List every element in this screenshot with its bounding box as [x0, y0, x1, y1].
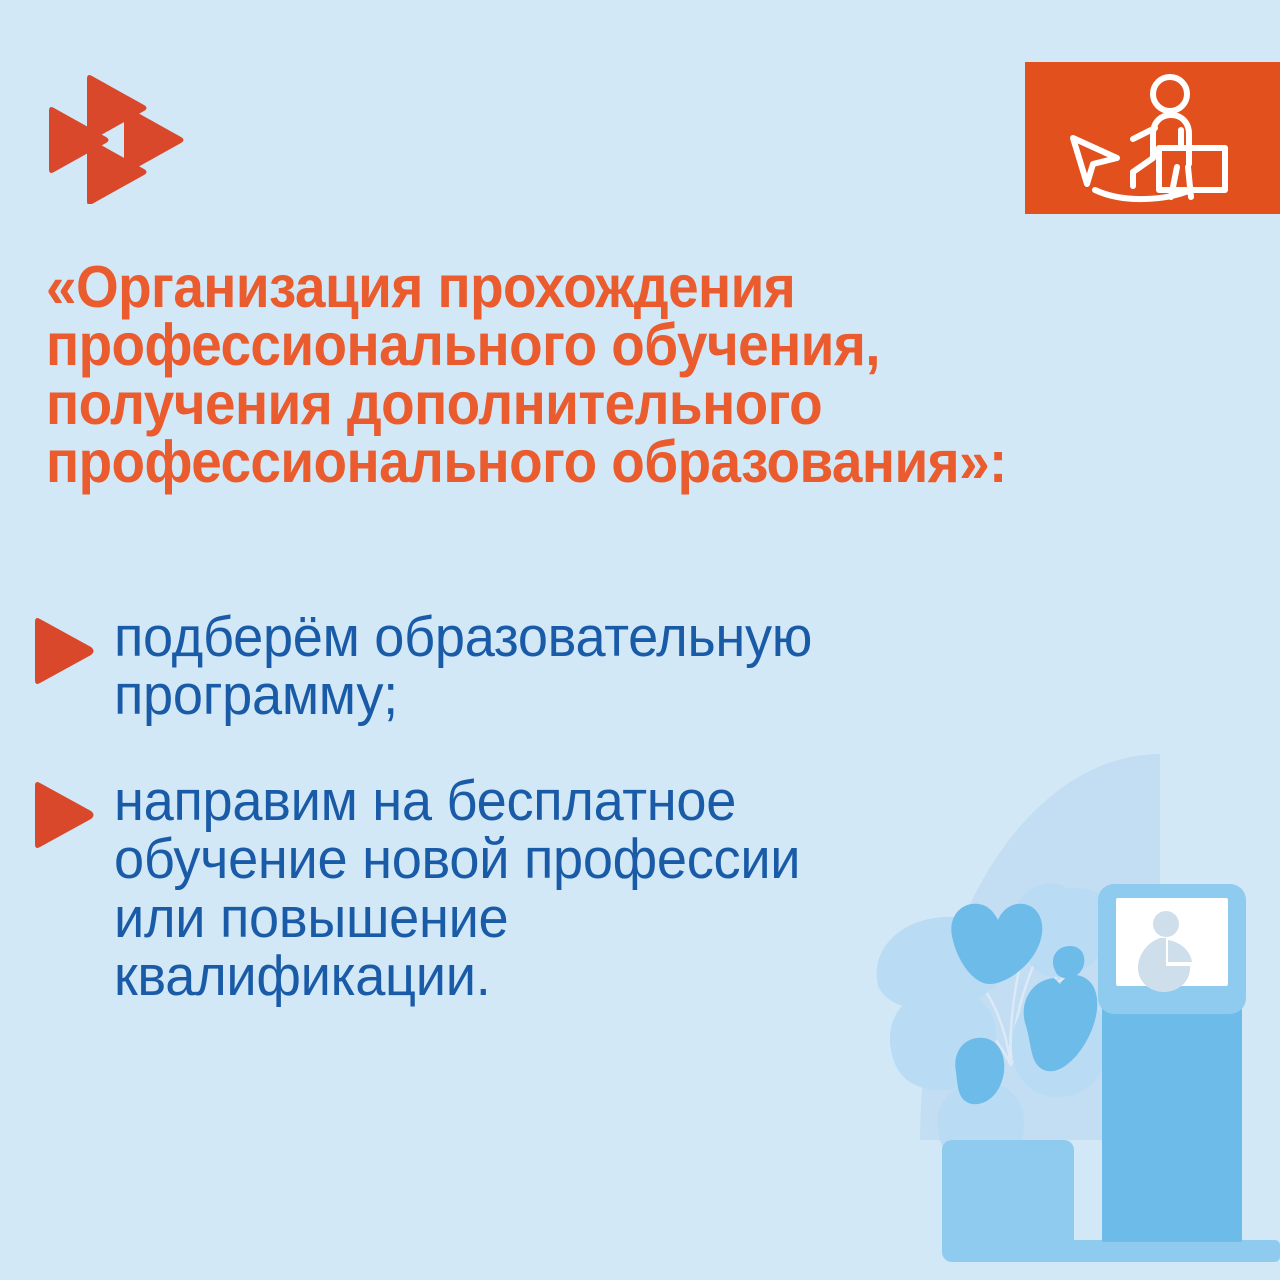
orange-triangle-bullet [34, 778, 96, 852]
page-title: «Организация прохождения профессионально… [46, 258, 1181, 492]
list-item-label: подберём образовательную программу; [114, 606, 812, 724]
benefits-list: подберём образовательную программу; напр… [34, 606, 1094, 1051]
employment-career-icon-badge [1025, 62, 1280, 214]
list-item: направим на бесплатное обучение новой пр… [34, 770, 1094, 1005]
list-item-label: направим на бесплатное обучение новой пр… [114, 770, 800, 1005]
person-with-briefcase-climbing-arrow-icon [1055, 72, 1255, 207]
logo-triangles [49, 75, 184, 204]
orange-triangle-bullet [34, 614, 96, 688]
list-item: подберём образовательную программу; [34, 606, 1094, 724]
poster-canvas: «Организация прохождения профессионально… [0, 0, 1280, 1280]
kiosk-screen [1116, 898, 1228, 986]
plant-pot [942, 1140, 1074, 1262]
kiosk-base [1056, 1240, 1280, 1262]
four-triangles-logo [44, 68, 184, 204]
person-avatar-icon [1138, 911, 1192, 992]
kiosk-column [1102, 928, 1242, 1242]
kiosk-head [1098, 884, 1246, 1014]
